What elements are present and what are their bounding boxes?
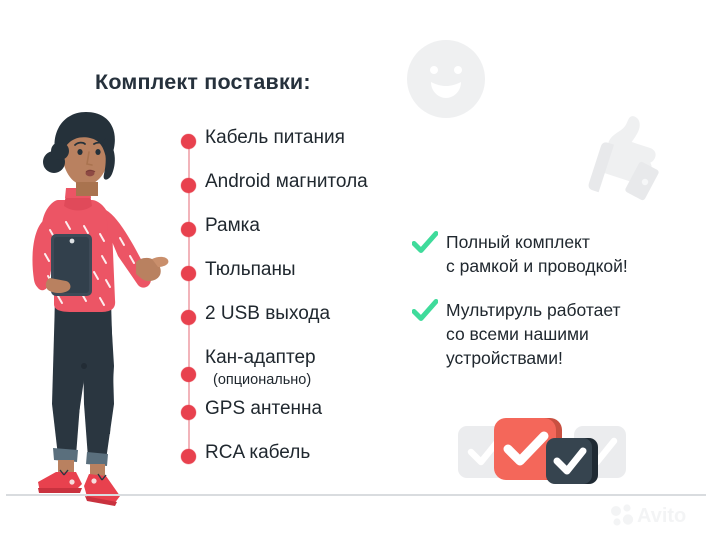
feature-line: с рамкой и проводкой! — [446, 254, 712, 278]
bullet-dot — [181, 405, 196, 420]
list-item-label: Кан-адаптер — [205, 346, 316, 370]
smiley-face-icon — [405, 38, 487, 120]
list-item: Android магнитола — [181, 172, 431, 216]
feature-line: со всеми нашими — [446, 322, 712, 346]
checkbox-cards-icon — [458, 408, 626, 492]
list-item-label: RCA кабель — [205, 441, 310, 465]
illustration-woman — [14, 104, 174, 508]
feature-text: Мультируль работает со всеми нашими устр… — [446, 298, 712, 370]
feature-line: Полный комплект — [446, 230, 712, 254]
green-check-icon — [412, 299, 438, 323]
bullet-dot — [181, 178, 196, 193]
feature-highlights: Полный комплект с рамкой и проводкой! Му… — [412, 230, 712, 384]
bullet-dot — [181, 449, 196, 464]
promo-card: Комплект поставки: Кабель питания Androi… — [0, 0, 720, 540]
page-title: Комплект поставки: — [95, 70, 311, 95]
list-item-label: Рамка — [205, 214, 260, 238]
bullet-dot — [181, 367, 196, 382]
green-check-icon — [412, 231, 438, 255]
list-item-label: Тюльпаны — [205, 258, 296, 282]
list-item: Кан-адаптер (опционально) — [181, 348, 431, 399]
bullet-dot — [181, 310, 196, 325]
list-item: 2 USB выхода — [181, 304, 431, 348]
feature-line: устройствами! — [446, 346, 712, 370]
bullet-dot — [181, 266, 196, 281]
feature-item: Полный комплект с рамкой и проводкой! — [412, 230, 712, 278]
bullet-dot — [181, 134, 196, 149]
list-item-label: Android магнитола — [205, 170, 368, 194]
list-item: Тюльпаны — [181, 260, 431, 304]
list-item: Рамка — [181, 216, 431, 260]
list-item: RCA кабель — [181, 443, 431, 487]
feature-item: Мультируль работает со всеми нашими устр… — [412, 298, 712, 370]
list-item-label: Кабель питания — [205, 126, 345, 150]
feature-line: Мультируль работает — [446, 298, 712, 322]
list-item-label: 2 USB выхода — [205, 302, 330, 326]
svg-text:Avito: Avito — [637, 505, 686, 527]
bullet-dot — [181, 222, 196, 237]
list-item: GPS антенна — [181, 399, 431, 443]
list-item-label: GPS антенна — [205, 397, 322, 421]
avito-watermark: Avito — [608, 500, 708, 528]
thumbs-up-icon — [575, 108, 671, 204]
delivery-contents-list: Кабель питания Android магнитола Рамка Т… — [181, 128, 431, 487]
ground-line — [6, 494, 706, 496]
list-item: Кабель питания — [181, 128, 431, 172]
feature-text: Полный комплект с рамкой и проводкой! — [446, 230, 712, 278]
list-item-sublabel: (опционально) — [213, 371, 311, 389]
